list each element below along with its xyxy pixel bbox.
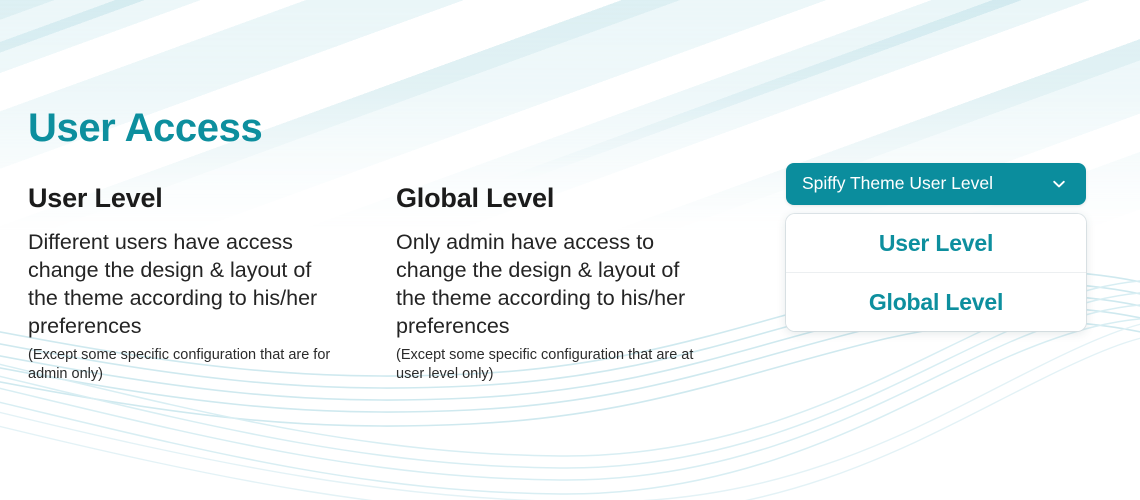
dropdown-item-user-level[interactable]: User Level	[786, 214, 1086, 272]
diagonal-stripes-accent	[0, 0, 1140, 180]
column-note-global-level: (Except some specific configuration that…	[396, 346, 718, 384]
column-body-global-level: Only admin have access to change the des…	[396, 228, 714, 340]
user-level-dropdown: Spiffy Theme User Level User Level Globa…	[786, 163, 1086, 331]
user-level-dropdown-menu: User Level Global Level	[786, 214, 1086, 331]
column-heading-user-level: User Level	[28, 183, 368, 214]
dropdown-item-label: Global Level	[869, 289, 1003, 316]
dropdown-selected-label: Spiffy Theme User Level	[802, 175, 993, 193]
column-body-user-level: Different users have access change the d…	[28, 228, 346, 340]
slide-canvas: User Access User Level Different users h…	[0, 0, 1140, 500]
column-heading-global-level: Global Level	[396, 183, 736, 214]
user-level-dropdown-toggle[interactable]: Spiffy Theme User Level	[786, 163, 1086, 205]
dropdown-item-label: User Level	[879, 230, 993, 257]
chevron-down-icon	[1050, 175, 1068, 193]
column-user-level: User Level Different users have access c…	[28, 183, 368, 384]
dropdown-item-global-level[interactable]: Global Level	[786, 272, 1086, 331]
page-title: User Access	[28, 106, 262, 150]
column-note-user-level: (Except some specific configuration that…	[28, 346, 350, 384]
column-global-level: Global Level Only admin have access to c…	[396, 183, 736, 384]
